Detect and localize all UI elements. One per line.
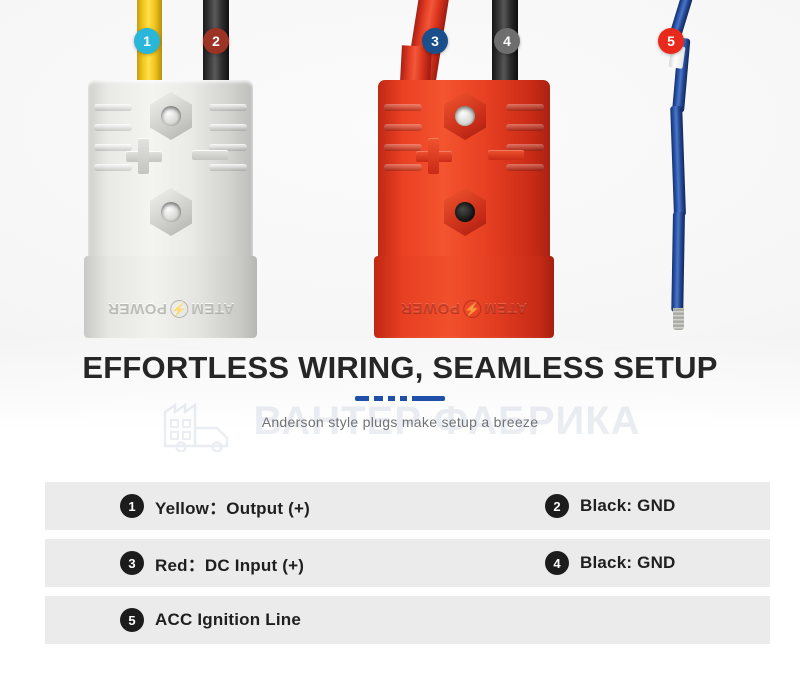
legend-label-1: Yellow：Output (+) (155, 494, 310, 519)
minus-polarity-mark (488, 150, 524, 160)
callout-badge-3: 3 (422, 28, 448, 54)
legend-row: 5 ACC Ignition Line (45, 596, 770, 644)
legend-item-4: 4 Black: GND (545, 551, 676, 575)
brand-name-secondary: POWER (401, 301, 460, 318)
legend-list: 1 Yellow：Output (+) 2 Black: GND 3 Red：D… (45, 482, 770, 653)
gray-anderson-connector: ATEM ⚡ POWER (88, 80, 253, 336)
legend-label-5: ACC Ignition Line (155, 610, 301, 630)
hero-product-photo: ATEM ⚡ POWER (0, 0, 800, 455)
headline-title: EFFORTLESS WIRING, SEAMLESS SETUP (0, 350, 800, 386)
brand-name-secondary: POWER (107, 301, 166, 318)
brand-emboss: ATEM ⚡ POWER (401, 300, 528, 318)
legend-number-1: 1 (120, 494, 144, 518)
headline-subtitle: Anderson style plugs make setup a breeze (0, 414, 800, 430)
hex-nut-bottom (444, 188, 486, 236)
housing-ribs-right (506, 104, 544, 224)
legend-item-5: 5 ACC Ignition Line (120, 608, 301, 632)
minus-polarity-mark (192, 150, 228, 160)
plus-polarity-mark (126, 138, 162, 174)
callout-badge-5: 5 (658, 28, 684, 54)
legend-number-5: 5 (120, 608, 144, 632)
legend-number-2: 2 (545, 494, 569, 518)
legend-label-2: Black: GND (580, 496, 676, 516)
hex-nut-top (444, 92, 486, 140)
hex-nut-top (150, 92, 192, 140)
callout-badge-4: 4 (494, 28, 520, 54)
stripped-wire-tip (673, 308, 684, 330)
legend-label-4: Black: GND (580, 553, 676, 573)
brand-name-primary: ATEM (190, 301, 233, 318)
legend-label-3: Red：DC Input (+) (155, 551, 304, 576)
legend-item-1: 1 Yellow：Output (+) (120, 494, 310, 519)
legend-number-4: 4 (545, 551, 569, 575)
legend-item-3: 3 Red：DC Input (+) (120, 551, 304, 576)
lightning-bolt-icon: ⚡ (463, 300, 481, 318)
callout-badge-1: 1 (134, 28, 160, 54)
plus-polarity-mark (416, 138, 452, 174)
accent-divider (355, 396, 445, 401)
brand-emboss: ATEM ⚡ POWER (107, 300, 234, 318)
brand-name-primary: ATEM (484, 301, 527, 318)
legend-row: 3 Red：DC Input (+) 4 Black: GND (45, 539, 770, 587)
hex-nut-bottom (150, 188, 192, 236)
legend-row: 1 Yellow：Output (+) 2 Black: GND (45, 482, 770, 530)
legend-item-2: 2 Black: GND (545, 494, 676, 518)
callout-badge-2: 2 (203, 28, 229, 54)
red-anderson-connector: ATEM ⚡ POWER (378, 80, 550, 336)
product-infographic: ATEM ⚡ POWER (0, 0, 800, 680)
lightning-bolt-icon: ⚡ (169, 300, 187, 318)
housing-ribs-right (209, 104, 247, 224)
legend-number-3: 3 (120, 551, 144, 575)
